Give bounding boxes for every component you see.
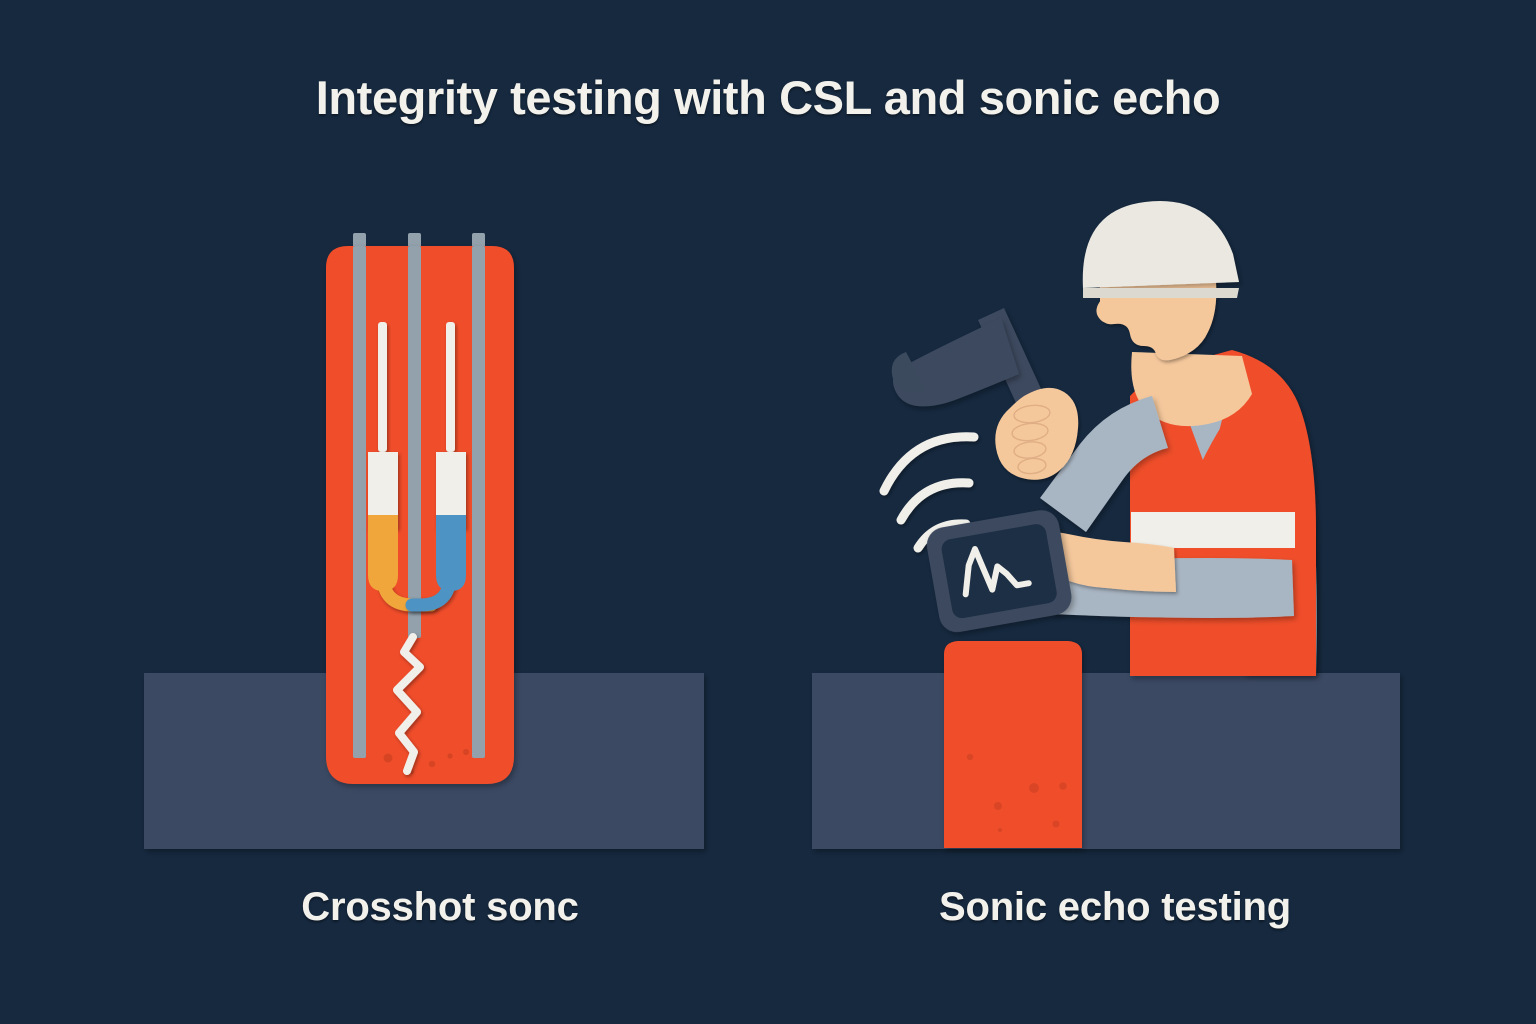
caption-crosshole-sonic: Crosshot sonc [160,885,720,930]
illustration-canvas: Integrity testing with CSL and sonic ech… [0,0,1536,1024]
caption-sonic-echo: Sonic echo testing [830,885,1400,930]
vest-reflective-stripe [1131,512,1295,548]
scene-svg [0,0,1536,1024]
page-title: Integrity testing with CSL and sonic ech… [0,70,1536,125]
right-ground-slab [812,673,1400,849]
right-concrete-pile [944,641,1082,848]
